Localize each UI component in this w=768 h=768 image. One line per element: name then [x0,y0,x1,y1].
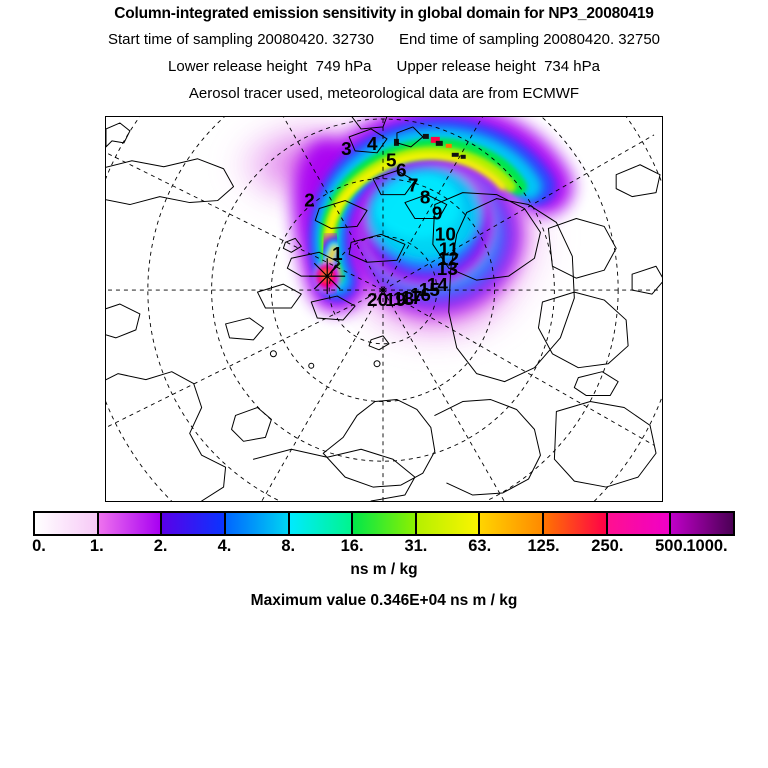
figure-root: Column-integrated emission sensitivity i… [0,0,768,768]
colorbar-tick-0: 0. [32,537,46,556]
colorbar-segment-1[interactable] [99,513,163,534]
colorbar-units-label: ns m / kg [0,561,768,579]
colorbar-segment-8[interactable] [544,513,608,534]
colorbar-tick-1: 1. [90,537,104,556]
colorbar[interactable] [33,511,735,536]
colorbar-tick-7: 63. [468,537,491,556]
colorbar-tick-6: 31. [404,537,427,556]
page-title: Column-integrated emission sensitivity i… [0,5,768,23]
day-label-19: 19 [385,290,406,311]
colorbar-segment-2[interactable] [162,513,226,534]
colorbar-tick-9: 250. [591,537,623,556]
colorbar-segment-7[interactable] [480,513,544,534]
colorbar-segment-6[interactable] [417,513,481,534]
colorbar-tick-10: 500. [655,537,687,556]
colorbar-gradient-strip[interactable] [33,511,735,536]
colorbar-segment-9[interactable] [608,513,672,534]
colorbar-tick-3: 4. [218,537,232,556]
release-height-line: Lower release height 749 hPa Upper relea… [0,58,768,75]
day-label-2: 2 [304,191,315,212]
colorbar-tick-2: 2. [154,537,168,556]
colorbar-segment-10[interactable] [671,513,733,534]
tracer-info-line: Aerosol tracer used, meteorological data… [0,85,768,102]
map-svg: 1 2 3 4 5 6 7 8 9 10 11 12 13 14 15 16 1 [106,117,662,501]
colorbar-segment-3[interactable] [226,513,290,534]
day-label-3: 3 [341,139,352,160]
colorbar-tick-8: 125. [527,537,559,556]
map-plot-panel[interactable]: 1 2 3 4 5 6 7 8 9 10 11 12 13 14 15 16 1 [105,116,663,502]
day-label-5: 5 [386,151,397,172]
day-label-20: 20 [367,290,388,311]
day-label-6: 6 [396,161,407,182]
day-label-4: 4 [367,134,378,155]
day-label-8: 8 [420,188,431,209]
day-label-7: 7 [408,176,419,197]
colorbar-tick-5: 16. [341,537,364,556]
sampling-time-line: Start time of sampling 20080420. 32730 E… [0,31,768,48]
day-label-1: 1 [332,244,343,265]
colorbar-segment-5[interactable] [353,513,417,534]
maximum-value-label: Maximum value 0.346E+04 ns m / kg [0,592,768,610]
colorbar-tick-labels: 0.1.2.4.8.16.31.63.125.250.500.1000. [0,537,768,559]
day-label-9: 9 [432,203,443,224]
colorbar-tick-4: 8. [281,537,295,556]
colorbar-segment-0[interactable] [35,513,99,534]
colorbar-tick-11: 1000. [686,537,727,556]
colorbar-segment-4[interactable] [290,513,354,534]
